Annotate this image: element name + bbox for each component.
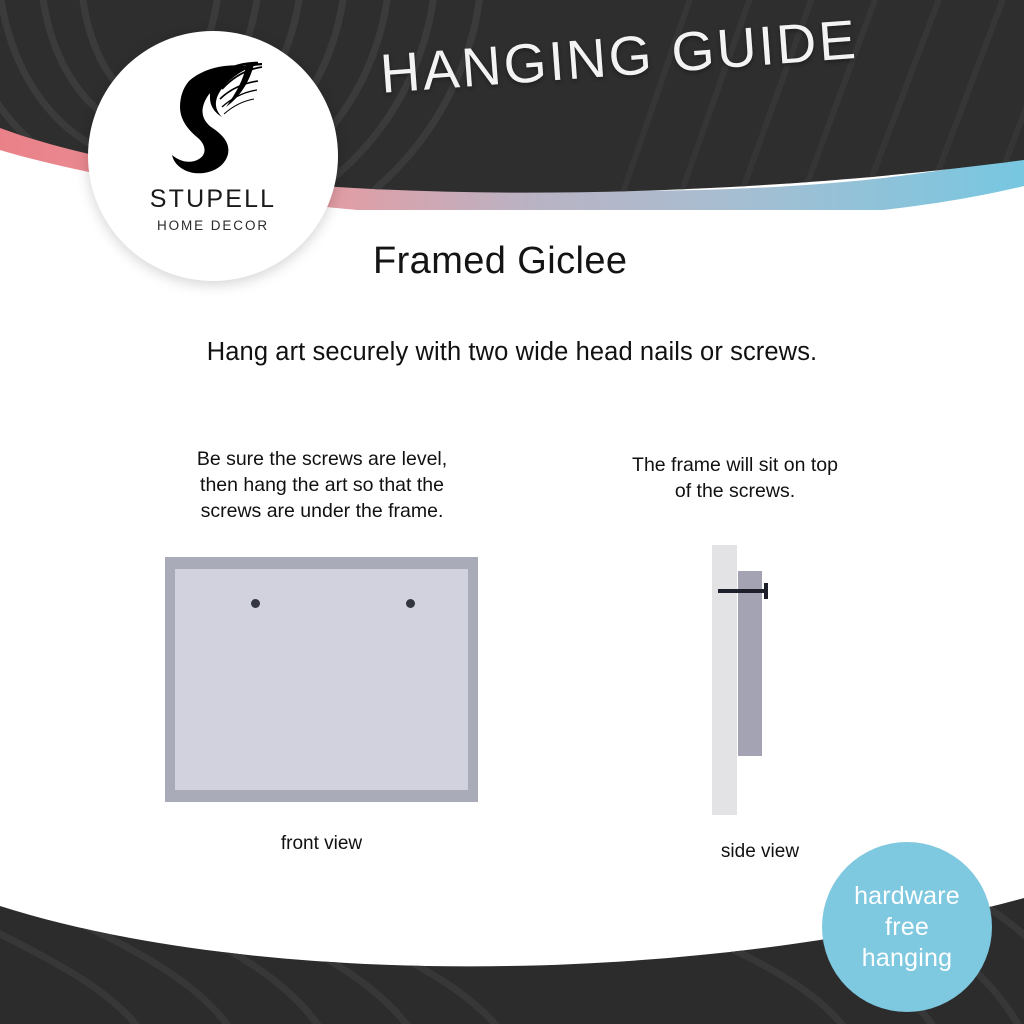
front-view-caption-line-1: Be sure the screws are level, — [137, 446, 507, 472]
stupell-swan-logo-icon — [158, 59, 268, 179]
side-view-caption-line-2: of the screws. — [594, 478, 876, 504]
hardware-free-hanging-badge: hardware free hanging — [822, 842, 992, 1012]
badge-line-2: free — [885, 912, 929, 943]
side-view-diagram — [700, 545, 820, 815]
lead-instruction: Hang art securely with two wide head nai… — [0, 338, 1024, 367]
nail-head-icon — [764, 583, 768, 599]
front-view-frame-interior — [175, 569, 468, 790]
side-view-caption: The frame will sit on top of the screws. — [594, 452, 876, 504]
screw-dot-left-icon — [251, 599, 260, 608]
brand-logo-badge: STUPELL HOME DECOR — [88, 31, 338, 281]
badge-line-3: hanging — [862, 943, 952, 974]
nail-shaft-icon — [718, 589, 766, 593]
front-view-diagram — [165, 557, 478, 802]
hanging-guide-page: HANGING GUIDE STUPELL HOME DECOR Framed … — [0, 0, 1024, 1024]
badge-line-1: hardware — [854, 881, 960, 912]
side-view-frame — [738, 571, 762, 756]
front-view-caption-line-2: then hang the art so that the — [137, 472, 507, 498]
front-view-caption-line-3: screws are under the frame. — [137, 498, 507, 524]
side-view-label: side view — [660, 841, 860, 863]
side-view-wall — [712, 545, 737, 815]
front-view-label: front view — [165, 833, 478, 855]
brand-tagline: HOME DECOR — [157, 218, 269, 233]
product-title: Framed Giclee — [373, 240, 627, 283]
side-view-caption-line-1: The frame will sit on top — [594, 452, 876, 478]
brand-name: STUPELL — [150, 185, 277, 214]
front-view-caption: Be sure the screws are level, then hang … — [137, 446, 507, 524]
screw-dot-right-icon — [406, 599, 415, 608]
